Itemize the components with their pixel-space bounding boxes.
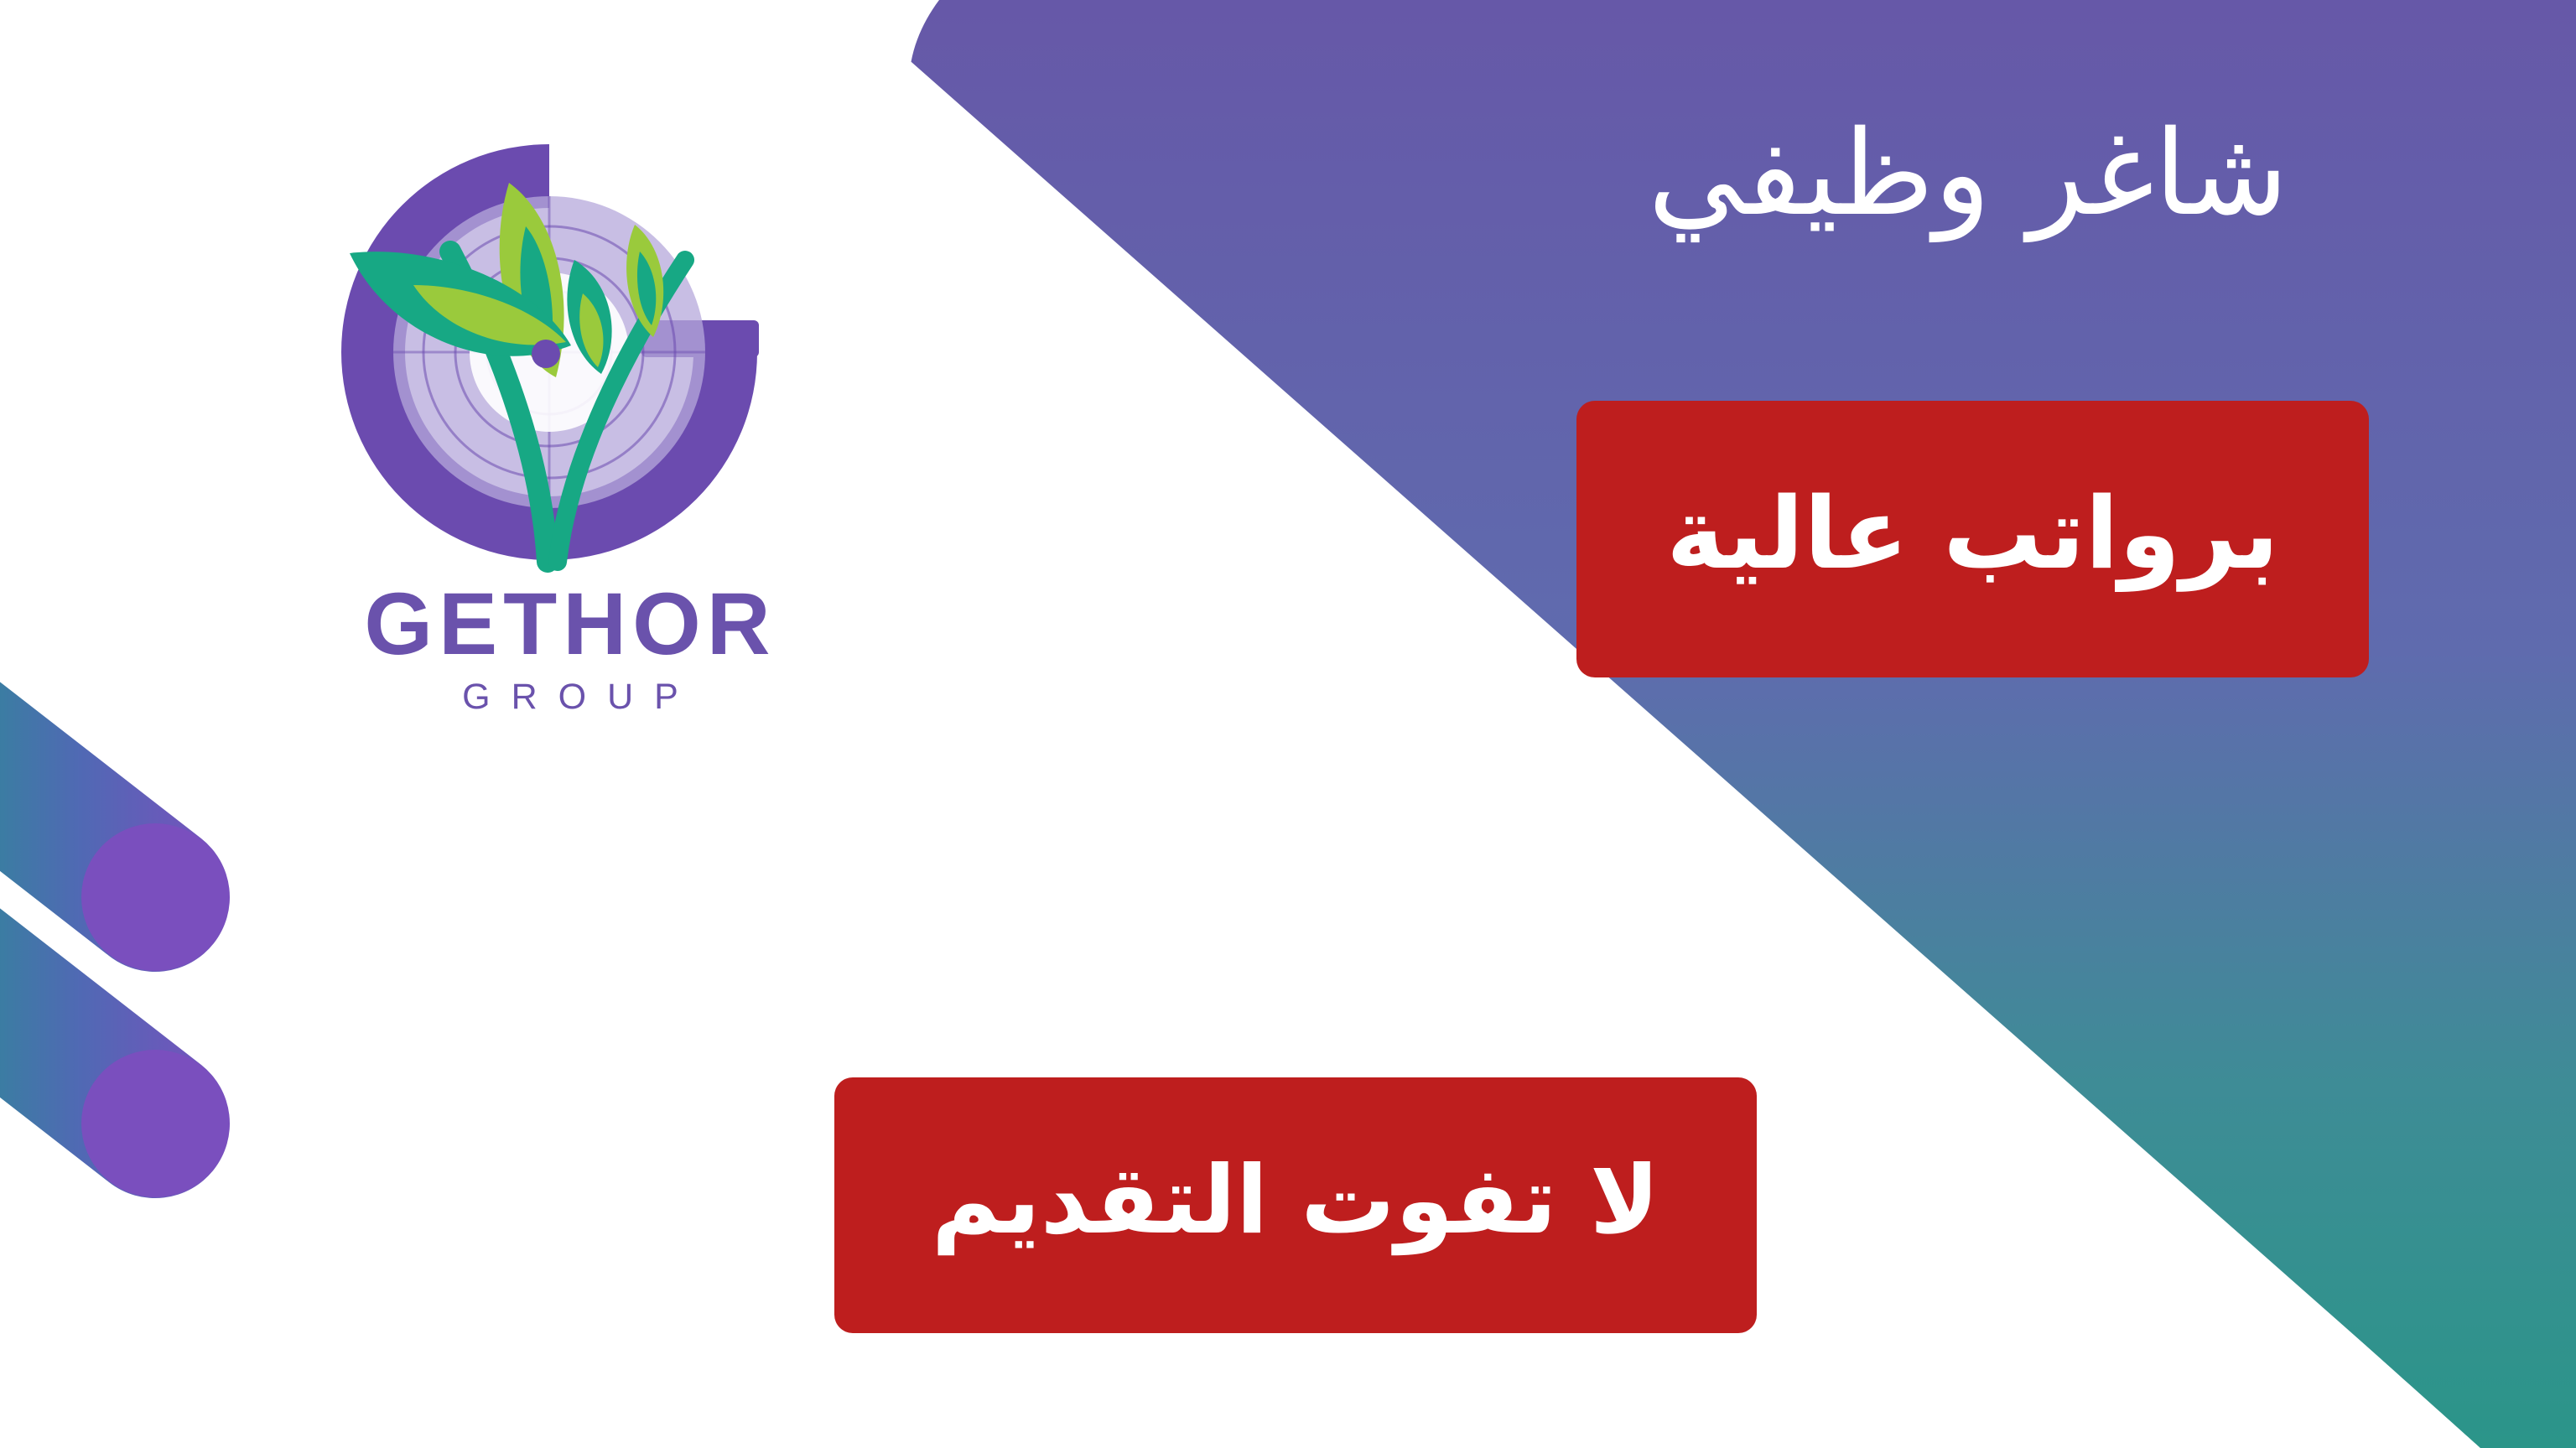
status-badge-high-salary: برواتب عالية xyxy=(1576,401,2369,677)
brand-logo: GETHOR GROUP xyxy=(277,126,872,763)
status-badge-dont-miss-apply: لا تفوت التقديم xyxy=(834,1077,1757,1333)
page-title: شاغر وظيفي xyxy=(1444,101,2492,247)
brand-wordmark: GETHOR xyxy=(277,580,864,668)
brand-subwordmark: GROUP xyxy=(277,679,864,715)
panel-curve-notch xyxy=(849,0,939,117)
job-vacancy-poster: GETHOR GROUP شاغر وظيفي برواتب عالية لا … xyxy=(0,0,2576,1448)
accent-stripe-2 xyxy=(0,771,230,1198)
accent-stripe-1 xyxy=(0,545,230,972)
sprout-in-circle-logo-icon xyxy=(306,126,792,579)
